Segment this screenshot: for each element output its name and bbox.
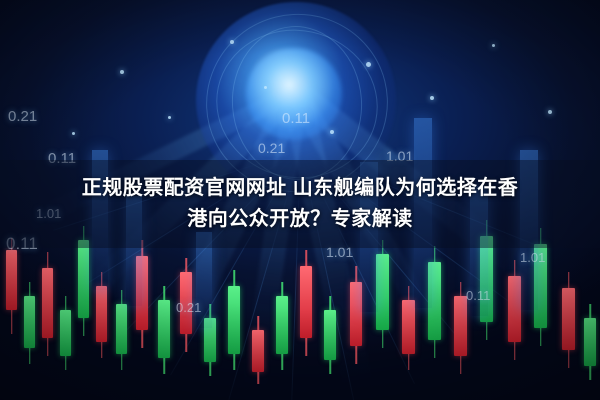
headline: 正规股票配资官网网址 山东舰编队为何选择在香 港向公众开放？专家解读 <box>0 160 600 248</box>
headline-line-2: 港向公众开放？专家解读 <box>187 207 413 232</box>
image-canvas: 0.210.111.010.110.110.211.011.010.111.01… <box>0 0 600 400</box>
headline-line-1: 正规股票配资官网网址 山东舰编队为何选择在香 <box>82 176 519 201</box>
